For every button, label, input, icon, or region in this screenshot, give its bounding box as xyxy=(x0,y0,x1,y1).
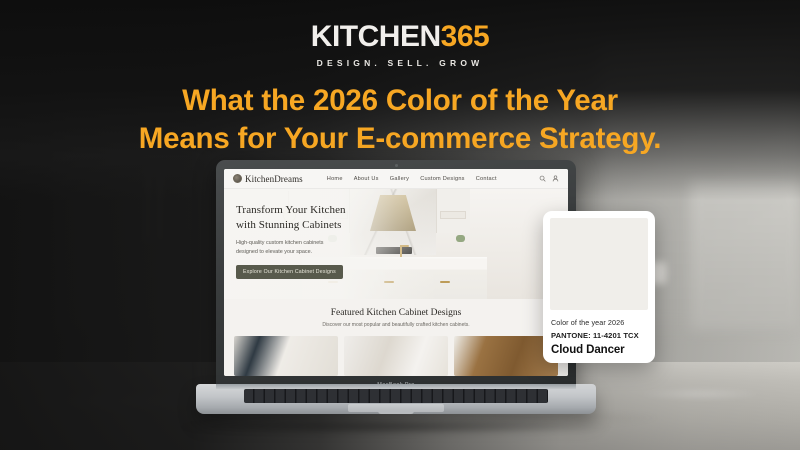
website-hero: Transform Your Kitchen with Stunning Cab… xyxy=(224,189,568,299)
website-nav-icons xyxy=(539,175,559,182)
brand-tagline: DESIGN. SELL. GROW xyxy=(0,59,800,68)
hero-subtitle: High-quality custom kitchen cabinets des… xyxy=(236,239,386,256)
brand-name-primary: KITCHEN xyxy=(311,20,441,53)
hero-cta-button[interactable]: Explore Our Kitchen Cabinet Designs xyxy=(236,265,343,279)
website-logo-text: KitchenDreams xyxy=(245,174,303,184)
website-logo-mark-icon xyxy=(233,174,242,183)
pantone-color-card: Color of the year 2026 PANTONE: 11-4201 … xyxy=(543,211,655,363)
pantone-meta: Color of the year 2026 PANTONE: 11-4201 … xyxy=(550,310,648,356)
menu-item-custom-designs[interactable]: Custom Designs xyxy=(420,176,465,182)
user-icon[interactable] xyxy=(552,175,559,182)
featured-card-list xyxy=(224,328,568,376)
brand-logo: KITCHEN365 DESIGN. SELL. GROW xyxy=(0,22,800,68)
website-featured-section: Featured Kitchen Cabinet Designs Discove… xyxy=(224,299,568,376)
menu-item-contact[interactable]: Contact xyxy=(476,176,497,182)
hero-subtitle-line-2: designed to elevate your space. xyxy=(236,249,312,255)
hero-title-line-1: Transform Your Kitchen xyxy=(236,204,346,216)
search-icon[interactable] xyxy=(539,175,546,182)
page-title: What the 2026 Color of the Year Means fo… xyxy=(0,82,800,159)
headline-line-1: What the 2026 Color of the Year xyxy=(0,82,800,120)
website-logo[interactable]: KitchenDreams xyxy=(233,174,303,184)
pantone-color-name: Cloud Dancer xyxy=(551,344,647,356)
laptop-mockup: KitchenDreams Home About Us Gallery Cust… xyxy=(196,160,596,425)
brand-name: KITCHEN365 xyxy=(0,22,800,52)
brand-name-accent: 365 xyxy=(441,20,490,53)
laptop-base xyxy=(196,384,596,414)
menu-item-about-us[interactable]: About Us xyxy=(354,176,379,182)
website-menu: Home About Us Gallery Custom Designs Con… xyxy=(327,176,497,182)
featured-title: Featured Kitchen Cabinet Designs xyxy=(224,308,568,318)
headline-line-2: Means for Your E-commerce Strategy. xyxy=(0,120,800,158)
webcam-icon xyxy=(395,164,398,167)
pantone-swatch xyxy=(550,218,648,310)
pantone-code: PANTONE: 11-4201 TCX xyxy=(551,331,647,340)
cabinet-design-card-2[interactable] xyxy=(344,336,448,376)
promo-banner: KITCHEN365 DESIGN. SELL. GROW What the 2… xyxy=(0,0,800,450)
laptop-lid: KitchenDreams Home About Us Gallery Cust… xyxy=(216,160,576,390)
laptop-screen: KitchenDreams Home About Us Gallery Cust… xyxy=(224,169,568,376)
menu-item-gallery[interactable]: Gallery xyxy=(390,176,409,182)
laptop-lid-notch xyxy=(378,411,414,414)
hero-title-line-2: with Stunning Cabinets xyxy=(236,219,341,231)
laptop-keyboard xyxy=(244,389,548,403)
hero-title: Transform Your Kitchen with Stunning Cab… xyxy=(236,203,386,232)
pantone-year-label: Color of the year 2026 xyxy=(551,318,647,327)
hero-copy: Transform Your Kitchen with Stunning Cab… xyxy=(236,203,386,279)
hero-subtitle-line-1: High-quality custom kitchen cabinets xyxy=(236,240,324,246)
website-navbar: KitchenDreams Home About Us Gallery Cust… xyxy=(224,169,568,189)
menu-item-home[interactable]: Home xyxy=(327,176,343,182)
cabinet-design-card-1[interactable] xyxy=(234,336,338,376)
